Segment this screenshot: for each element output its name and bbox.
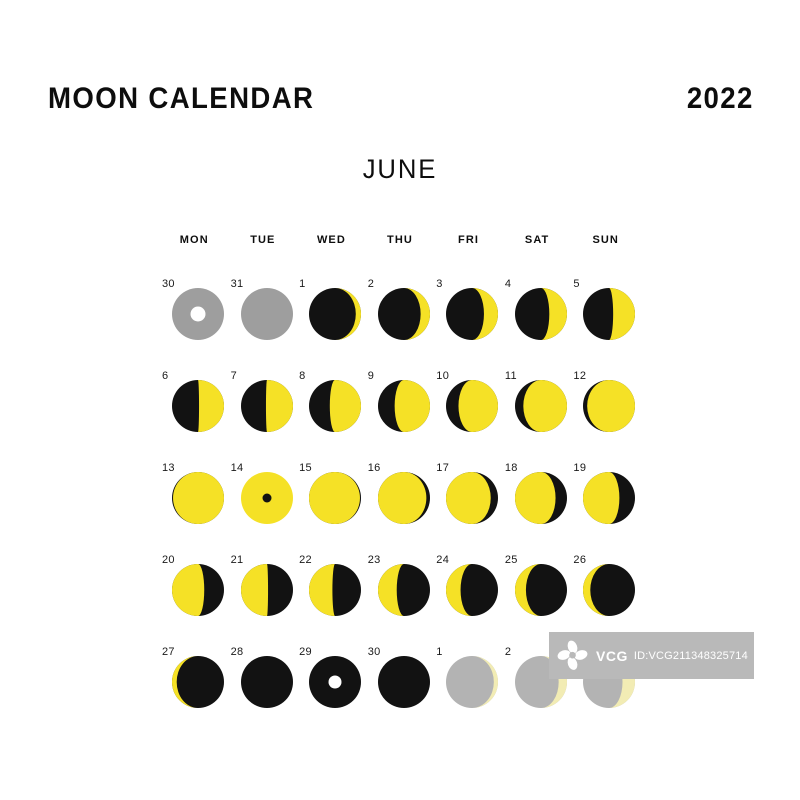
day-number: 17 bbox=[436, 462, 449, 474]
day-number: 30 bbox=[162, 278, 175, 290]
vcg-logo-icon bbox=[549, 632, 596, 679]
calendar-day-cell[interactable]: 13 bbox=[160, 462, 228, 532]
moon-phase-icon bbox=[446, 656, 498, 708]
day-number: 3 bbox=[436, 278, 442, 290]
calendar-day-cell[interactable]: 24 bbox=[434, 554, 502, 624]
moon-phase-icon bbox=[378, 472, 430, 524]
day-number: 11 bbox=[505, 370, 517, 382]
moon-phase-icon bbox=[583, 380, 635, 432]
calendar-day-cell[interactable]: 4 bbox=[503, 278, 571, 348]
calendar-day-cell[interactable]: 11 bbox=[503, 370, 571, 440]
moon-phase-icon bbox=[583, 288, 635, 340]
calendar-day-cell[interactable]: 25 bbox=[503, 554, 571, 624]
moon-phase-icon bbox=[309, 656, 361, 708]
moon-phase-icon bbox=[172, 288, 224, 340]
moon-phase-icon bbox=[378, 564, 430, 616]
weekday-wed: WED bbox=[297, 234, 366, 246]
weekday-sun: SUN bbox=[571, 234, 640, 246]
month-label: JUNE bbox=[20, 154, 780, 185]
moon-phase-icon bbox=[446, 288, 498, 340]
calendar-day-cell[interactable]: 20 bbox=[160, 554, 228, 624]
calendar-day-cell[interactable]: 1 bbox=[434, 646, 502, 716]
moon-phase-icon bbox=[515, 472, 567, 524]
weekday-thu: THU bbox=[366, 234, 435, 246]
calendar-day-cell[interactable]: 3 bbox=[434, 278, 502, 348]
day-number: 15 bbox=[299, 462, 312, 474]
weekday-header-row: MONTUEWEDTHUFRISATSUN bbox=[160, 234, 640, 246]
day-number: 18 bbox=[505, 462, 518, 474]
moon-phase-icon bbox=[309, 380, 361, 432]
day-number: 29 bbox=[299, 646, 312, 658]
calendar-day-cell[interactable]: 10 bbox=[434, 370, 502, 440]
calendar-day-cell[interactable]: 16 bbox=[366, 462, 434, 532]
day-number: 24 bbox=[436, 554, 449, 566]
moon-calendar-page: MOON CALENDAR 2022 JUNE MONTUEWEDTHUFRIS… bbox=[0, 0, 800, 800]
calendar-day-cell[interactable]: 28 bbox=[229, 646, 297, 716]
day-number: 7 bbox=[231, 370, 237, 382]
calendar-day-cell[interactable]: 17 bbox=[434, 462, 502, 532]
calendar-day-cell[interactable]: 29 bbox=[297, 646, 365, 716]
day-number: 12 bbox=[573, 370, 586, 382]
calendar-day-cell[interactable]: 6 bbox=[160, 370, 228, 440]
day-number: 22 bbox=[299, 554, 312, 566]
moon-phase-icon bbox=[378, 380, 430, 432]
moon-phase-icon bbox=[309, 564, 361, 616]
moon-phase-icon bbox=[378, 656, 430, 708]
year-label: 2022 bbox=[687, 82, 754, 116]
calendar-day-cell[interactable]: 30 bbox=[160, 278, 228, 348]
calendar-day-cell[interactable]: 18 bbox=[503, 462, 571, 532]
day-number: 6 bbox=[162, 370, 168, 382]
moon-phase-icon bbox=[446, 564, 498, 616]
day-number: 26 bbox=[573, 554, 586, 566]
calendar-day-cell[interactable]: 9 bbox=[366, 370, 434, 440]
moon-phase-icon bbox=[241, 472, 293, 524]
moon-phase-icon bbox=[515, 288, 567, 340]
moon-phase-icon bbox=[241, 288, 293, 340]
calendar-day-cell[interactable]: 31 bbox=[229, 278, 297, 348]
moon-phase-icon bbox=[378, 288, 430, 340]
page-title: MOON CALENDAR bbox=[48, 82, 314, 116]
day-number: 4 bbox=[505, 278, 511, 290]
moon-phase-icon bbox=[515, 564, 567, 616]
moon-phase-icon bbox=[309, 288, 361, 340]
calendar-day-cell[interactable]: 14 bbox=[229, 462, 297, 532]
moon-phase-icon bbox=[172, 472, 224, 524]
calendar-day-cell[interactable]: 23 bbox=[366, 554, 434, 624]
moon-phase-icon bbox=[515, 380, 567, 432]
day-number: 21 bbox=[231, 554, 244, 566]
day-number: 5 bbox=[573, 278, 579, 290]
watermark: VCG ID:VCG211348325714 bbox=[549, 632, 754, 679]
weekday-mon: MON bbox=[160, 234, 229, 246]
day-number: 30 bbox=[368, 646, 381, 658]
day-number: 23 bbox=[368, 554, 381, 566]
calendar-day-cell[interactable]: 30 bbox=[366, 646, 434, 716]
moon-phase-icon bbox=[241, 564, 293, 616]
day-number: 20 bbox=[162, 554, 175, 566]
moon-phase-icon bbox=[172, 564, 224, 616]
day-number: 28 bbox=[231, 646, 244, 658]
calendar-day-cell[interactable]: 5 bbox=[571, 278, 639, 348]
day-number: 9 bbox=[368, 370, 374, 382]
day-number: 25 bbox=[505, 554, 518, 566]
moon-phase-icon bbox=[446, 472, 498, 524]
day-number: 31 bbox=[231, 278, 244, 290]
calendar-day-cell[interactable]: 8 bbox=[297, 370, 365, 440]
moon-phase-icon bbox=[583, 472, 635, 524]
calendar-day-cell[interactable]: 26 bbox=[571, 554, 639, 624]
day-number: 1 bbox=[299, 278, 305, 290]
calendar-day-cell[interactable]: 27 bbox=[160, 646, 228, 716]
moon-phase-icon bbox=[309, 472, 361, 524]
moon-phase-icon bbox=[446, 380, 498, 432]
calendar-day-cell[interactable]: 22 bbox=[297, 554, 365, 624]
calendar-day-cell[interactable]: 7 bbox=[229, 370, 297, 440]
watermark-id: ID:VCG211348325714 bbox=[634, 650, 748, 662]
day-number: 16 bbox=[368, 462, 381, 474]
day-number: 19 bbox=[573, 462, 586, 474]
calendar-day-cell[interactable]: 12 bbox=[571, 370, 639, 440]
day-number: 27 bbox=[162, 646, 175, 658]
moon-phase-icon bbox=[241, 656, 293, 708]
moon-phase-icon bbox=[241, 380, 293, 432]
day-number: 2 bbox=[368, 278, 374, 290]
moon-phase-icon bbox=[583, 564, 635, 616]
day-number: 2 bbox=[505, 646, 511, 658]
calendar-day-cell[interactable]: 21 bbox=[229, 554, 297, 624]
day-number: 13 bbox=[162, 462, 175, 474]
day-number: 1 bbox=[436, 646, 442, 658]
weekday-fri: FRI bbox=[434, 234, 503, 246]
day-number: 10 bbox=[436, 370, 449, 382]
calendar-day-cell[interactable]: 15 bbox=[297, 462, 365, 532]
weekday-sat: SAT bbox=[503, 234, 572, 246]
calendar-day-cell[interactable]: 2 bbox=[366, 278, 434, 348]
moon-phase-icon bbox=[172, 380, 224, 432]
moon-phase-icon bbox=[172, 656, 224, 708]
watermark-brand: VCG bbox=[596, 648, 628, 664]
calendar-day-cell[interactable]: 1 bbox=[297, 278, 365, 348]
calendar-day-cell[interactable]: 19 bbox=[571, 462, 639, 532]
day-number: 8 bbox=[299, 370, 305, 382]
day-number: 14 bbox=[231, 462, 244, 474]
weekday-tue: TUE bbox=[229, 234, 298, 246]
